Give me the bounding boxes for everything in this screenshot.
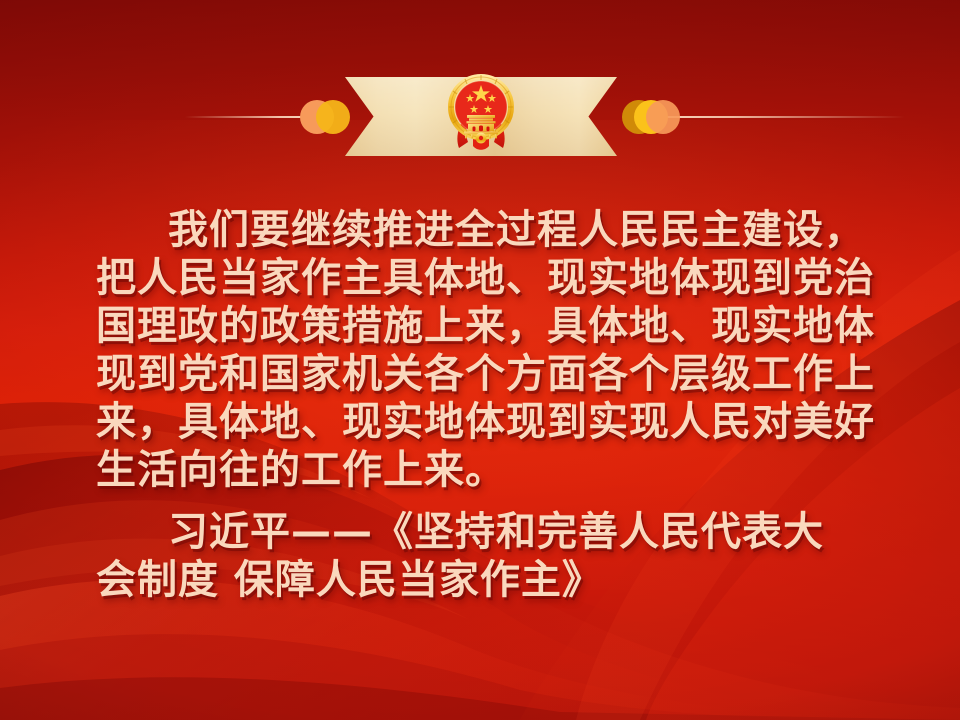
- quote-line: 现到党和国家机关各个方面各个层级工作上: [96, 350, 864, 398]
- attribution-line: 习近平——《坚持和完善人民代表大: [96, 508, 864, 556]
- quote-line: 来，具体地、现实地体现到实现人民对美好: [96, 398, 864, 446]
- quote-line: 生活向往的工作上来。: [96, 446, 864, 494]
- attribution-block: 习近平——《坚持和完善人民代表大 会制度 保障人民当家作主》: [96, 508, 864, 604]
- right-dot-salmon: [646, 100, 680, 134]
- poster-canvas: 我们要继续推进全过程人民民主建设， 把人民当家作主具体地、现实地体现到党治 国理…: [0, 0, 960, 720]
- header-decoration: [0, 0, 960, 190]
- attribution-line: 会制度 保障人民当家作主》: [96, 556, 864, 604]
- left-dot-gold: [316, 100, 350, 134]
- quote-line: 我们要继续推进全过程人民民主建设，: [96, 206, 864, 254]
- quote-line: 国理政的政策措施上来，具体地、现实地体: [96, 302, 864, 350]
- quote-line: 把人民当家作主具体地、现实地体现到党治: [96, 254, 864, 302]
- quote-block: 我们要继续推进全过程人民民主建设， 把人民当家作主具体地、现实地体现到党治 国理…: [96, 206, 864, 494]
- national-emblem-icon: [443, 68, 519, 154]
